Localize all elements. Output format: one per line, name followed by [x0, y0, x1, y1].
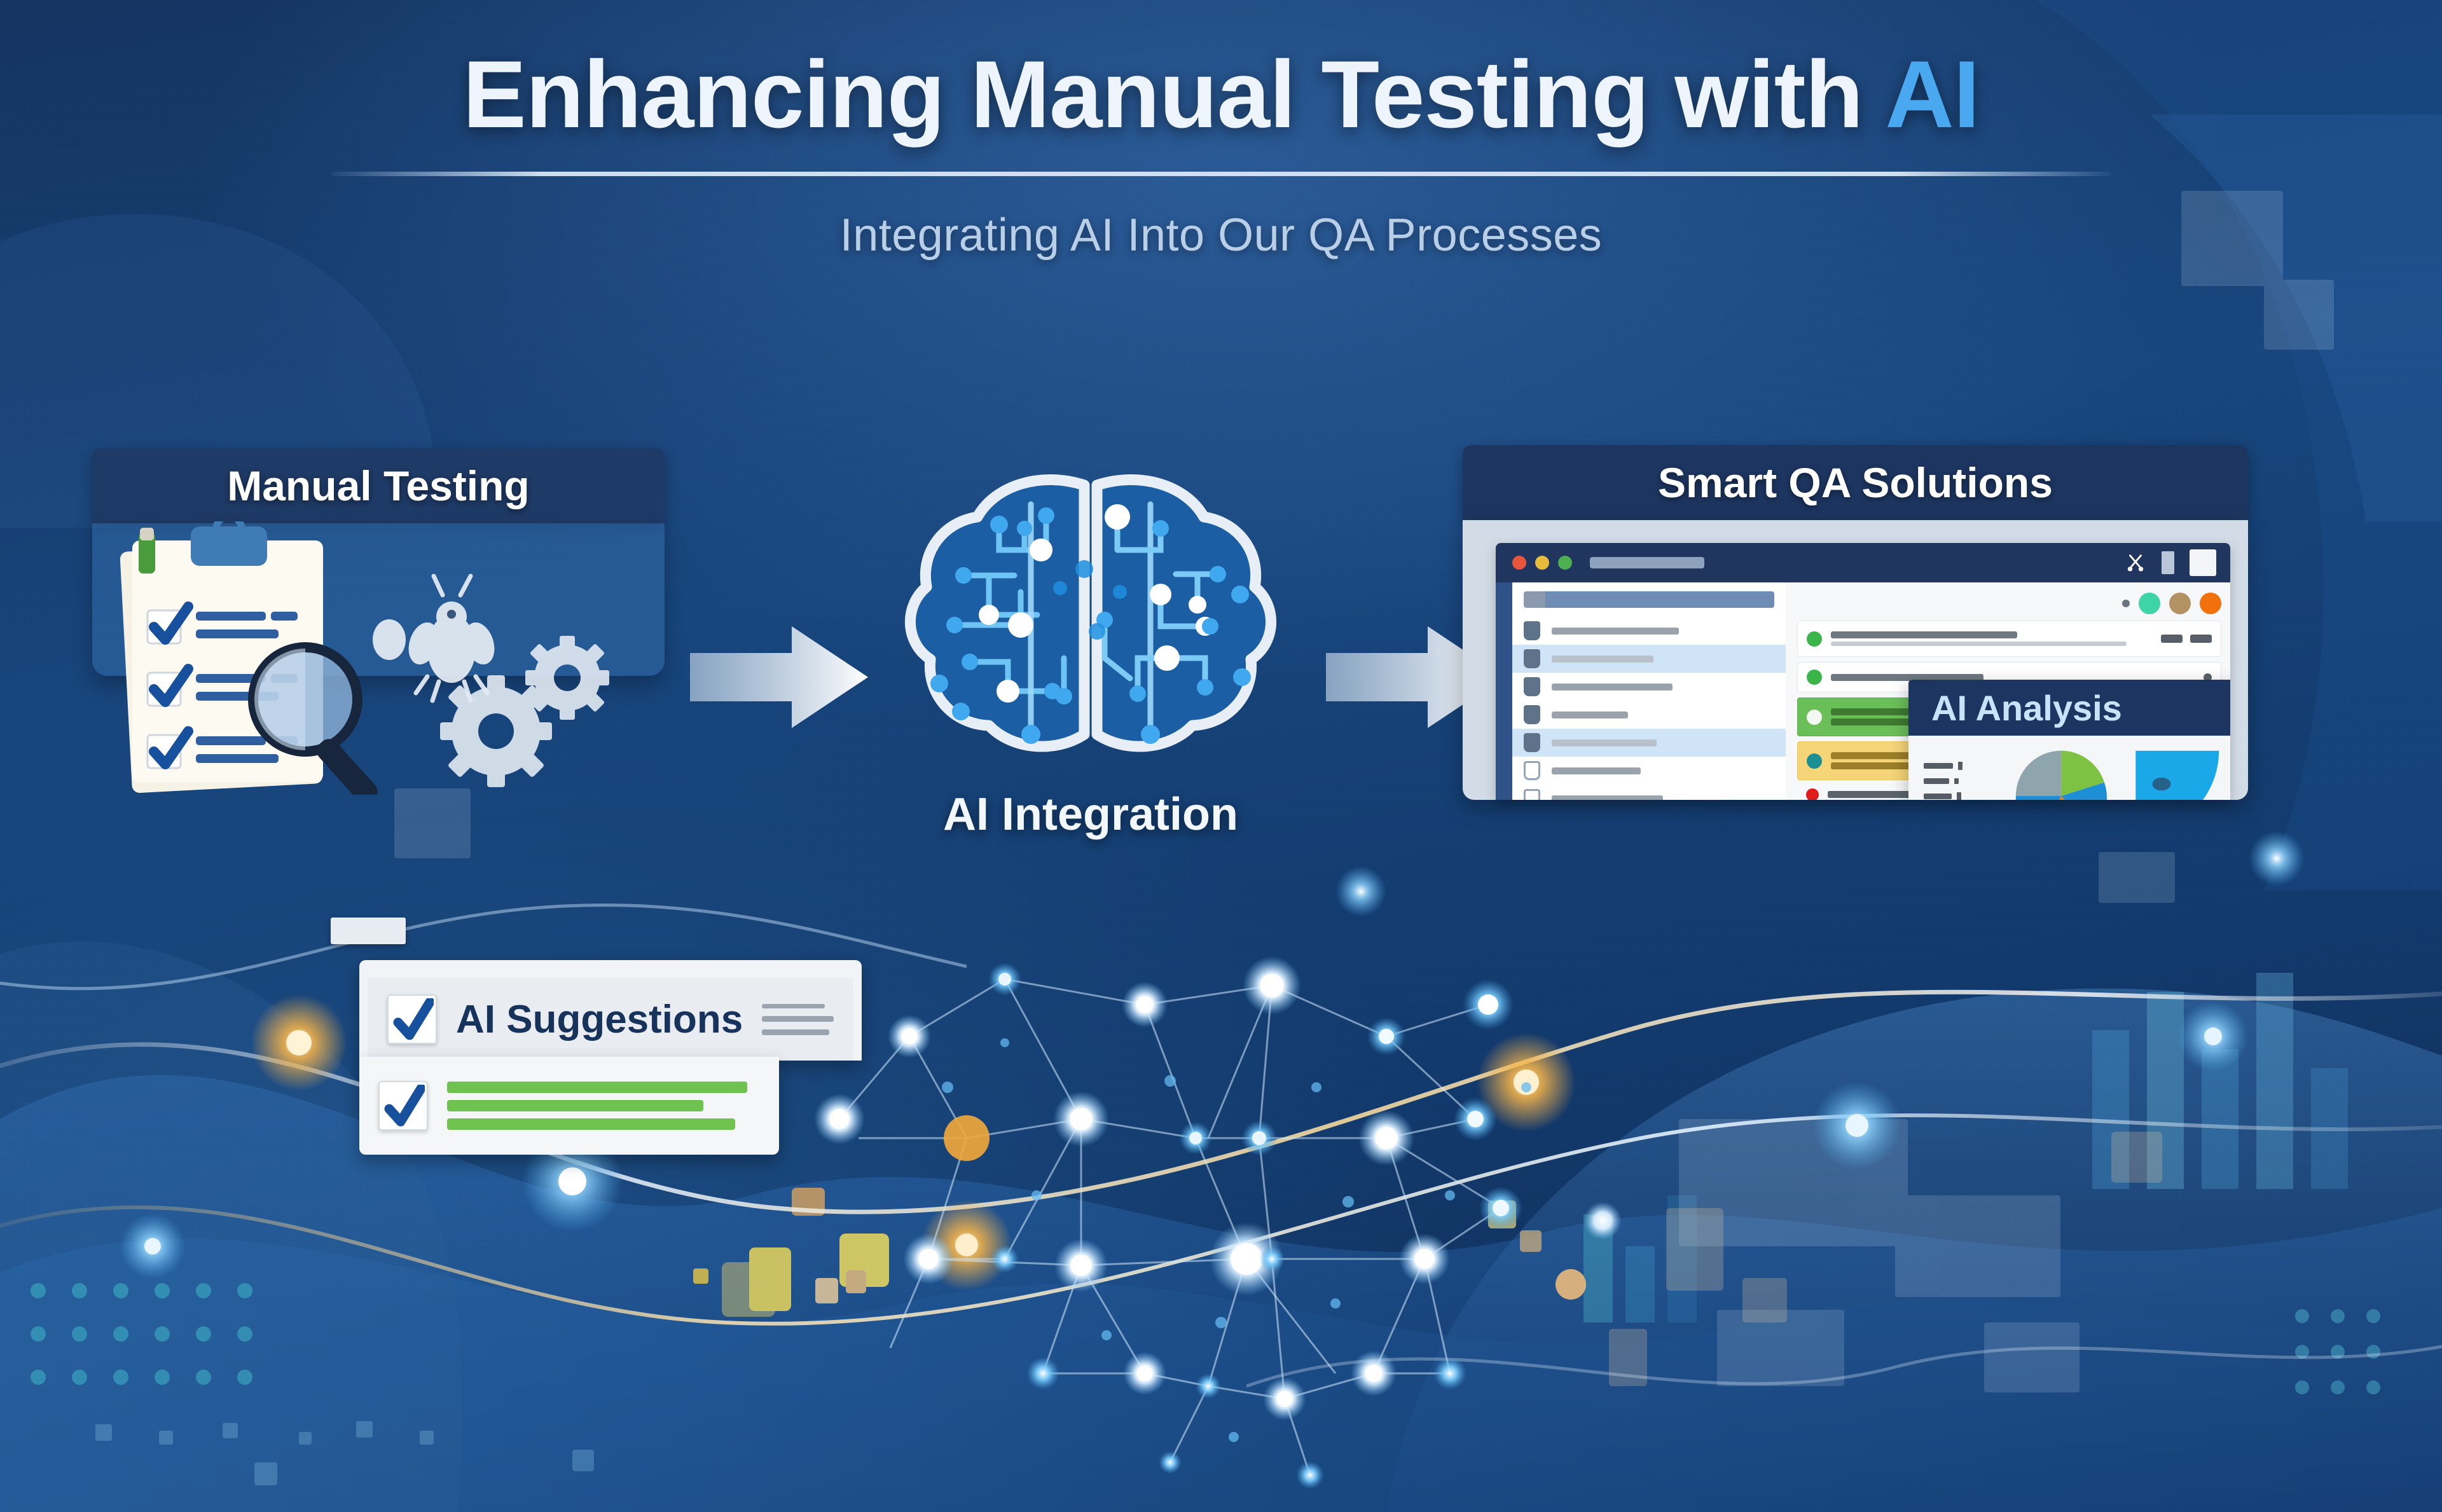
badge-icon [1524, 677, 1540, 696]
title-divider [331, 172, 2111, 176]
row-tags [2161, 635, 2212, 643]
ai-analysis-header: AI Analysis [1908, 680, 2230, 736]
list-item-label [1552, 684, 1673, 691]
list-item[interactable] [1512, 785, 1786, 800]
checkmark-icon[interactable] [378, 1081, 428, 1131]
list-item[interactable] [1512, 673, 1786, 701]
smart-qa-card[interactable]: Smart QA Solutions [1463, 445, 2248, 800]
arrow-right-icon [690, 626, 868, 747]
window-title-placeholder [1590, 557, 1704, 568]
ai-analysis-title: AI Analysis [1931, 687, 2122, 729]
avatar[interactable] [2200, 593, 2221, 614]
list-item[interactable] [1512, 701, 1786, 729]
test-case-list[interactable] [1512, 582, 1786, 800]
checkmark-icon[interactable] [387, 994, 437, 1044]
avatar[interactable] [2169, 593, 2191, 614]
chart-legend [1924, 753, 1993, 801]
list-item-label [1552, 795, 1663, 801]
floating-tab-chip [331, 918, 406, 944]
status-badge [1807, 753, 1822, 769]
page-subtitle: Integrating AI Into Our QA Processes [0, 209, 2442, 261]
list-item[interactable] [1512, 617, 1786, 645]
manual-testing-illustration [114, 521, 636, 795]
status-badge [1807, 670, 1822, 685]
maximize-button[interactable] [1558, 556, 1572, 570]
left-rail [1496, 582, 1512, 800]
ai-suggestion-lines [447, 1075, 760, 1137]
pie-chart [2004, 739, 2118, 800]
ai-suggestions-meta [762, 996, 834, 1043]
list-item-label [1552, 739, 1657, 746]
document-icon [1524, 733, 1540, 752]
ai-suggestions-bottom[interactable] [359, 1057, 779, 1155]
status-badge [1807, 710, 1822, 725]
outline-circle-icon [1524, 789, 1540, 800]
outline-circle-icon [1524, 761, 1540, 780]
window-controls [2125, 549, 2216, 576]
manual-testing-label: Manual Testing [227, 462, 529, 510]
sidebar-bar-icon[interactable] [2162, 551, 2174, 574]
chevron-icon [1524, 621, 1540, 640]
brain-circuit-icon [893, 467, 1288, 766]
quarter-gauge-chart [2129, 745, 2224, 800]
scissors-icon[interactable] [2125, 552, 2146, 574]
more-dot-icon[interactable] [2122, 600, 2130, 607]
ai-analysis-card[interactable]: AI Analysis [1908, 680, 2230, 800]
manual-testing-header: Manual Testing [92, 448, 665, 523]
ai-integration-step[interactable]: AI Integration [887, 467, 1294, 841]
smart-qa-body: AI Analysis [1463, 520, 2248, 800]
page-title-accent: AI [1885, 41, 1979, 148]
ai-suggestions-row[interactable]: AI Suggestions [368, 978, 853, 1061]
search-input[interactable] [1524, 591, 1774, 608]
ai-suggestions-card[interactable]: AI Suggestions [359, 960, 862, 1155]
close-button[interactable] [1512, 556, 1526, 570]
circle-icon [1524, 705, 1540, 724]
list-item[interactable] [1512, 757, 1786, 785]
status-badge [1806, 788, 1819, 801]
status-badge [1807, 631, 1822, 647]
ai-analysis-body [1908, 736, 2230, 800]
slide-header: Enhancing Manual Testing with AI Integra… [0, 45, 2442, 261]
window-titlebar [1496, 543, 2230, 582]
ai-suggestions-title: AI Suggestions [456, 997, 743, 1042]
test-result-row[interactable] [1797, 621, 2221, 657]
list-item-label [1552, 628, 1679, 635]
row-content [1831, 628, 2152, 649]
ai-suggestions-top: AI Suggestions [359, 960, 862, 1061]
qa-application-window[interactable]: AI Analysis [1496, 543, 2230, 800]
avatar-group [1797, 593, 2221, 614]
list-item-label [1552, 711, 1628, 718]
list-item-label [1552, 767, 1641, 774]
page-title-main: Enhancing Manual Testing with [463, 41, 1886, 148]
smart-qa-header: Smart QA Solutions [1463, 445, 2248, 520]
maximize-square-icon[interactable] [2190, 549, 2216, 576]
ai-integration-label: AI Integration [887, 788, 1294, 841]
avatar[interactable] [2139, 593, 2160, 614]
list-item-label [1552, 656, 1653, 663]
list-item[interactable] [1512, 729, 1786, 757]
list-item[interactable] [1512, 645, 1786, 673]
smart-qa-label: Smart QA Solutions [1658, 458, 2053, 507]
shield-icon [1524, 649, 1540, 668]
bug-icon [373, 576, 499, 701]
minimize-button[interactable] [1535, 556, 1549, 570]
neural-network-icon [814, 928, 1704, 1501]
page-title: Enhancing Manual Testing with AI [0, 45, 2442, 145]
